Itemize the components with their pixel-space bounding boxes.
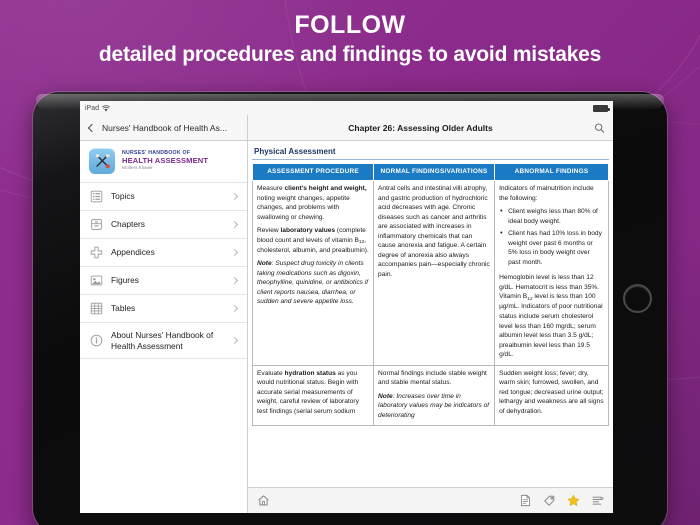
chevron-right-icon [231, 221, 238, 228]
promo-stage: FOLLOW detailed procedures and findings … [0, 0, 700, 525]
app-body: NURSES' HANDBOOK OF HEALTH ASSESSMENT Wo… [80, 141, 613, 513]
ipad-screen: iPad Nurses' Handbook of Health As... [80, 101, 613, 513]
chevron-right-icon [231, 337, 238, 344]
cell-assessment-procedure: Measure client's height and weight, noti… [253, 181, 374, 366]
note-label: Note [257, 260, 272, 267]
sidebar-item-label: Chapters [111, 219, 224, 230]
paragraph: Normal findings include stable weight an… [378, 369, 490, 388]
note-label: Note [378, 393, 393, 400]
status-right [593, 105, 608, 112]
table-header-row: ASSESSMENT PROCEDURE NORMAL FINDINGS/VAR… [253, 164, 609, 181]
book-title-label: Nurses' Handbook of Health As... [102, 123, 227, 133]
brand-line-2: HEALTH ASSESSMENT [122, 157, 208, 165]
content-scroll-area[interactable]: Physical Assessment ASSESSMENT PROCEDURE… [248, 141, 613, 487]
note-text: : Increases over time in laboratory valu… [378, 393, 489, 419]
chevron-right-icon [231, 193, 238, 200]
chapter-title: Chapter 26: Assessing Older Adults [248, 123, 613, 133]
sidebar-item-label: Figures [111, 275, 224, 286]
status-left: iPad [85, 105, 110, 112]
sidebar-item-tables[interactable]: Tables [80, 295, 247, 323]
text-bold: hydration status [285, 370, 336, 377]
brand-text: NURSES' HANDBOOK OF HEALTH ASSESSMENT Wo… [122, 151, 208, 171]
bullet-list: Client weighs less than 80% of ideal bod… [499, 207, 604, 267]
ipad-device-frame: iPad Nurses' Handbook of Health As... [33, 92, 667, 525]
chevron-left-icon[interactable] [88, 123, 96, 131]
promo-headline: FOLLOW detailed procedures and findings … [0, 10, 700, 69]
text-fragment: noting weight changes, appetite changes,… [257, 195, 350, 221]
battery-full-icon [593, 105, 608, 112]
sidebar-item-topics[interactable]: Topics [80, 183, 247, 211]
list-lines-icon[interactable] [591, 494, 604, 507]
table-icon [90, 302, 103, 315]
app-navigation-bar: Nurses' Handbook of Health As... Chapter… [80, 115, 613, 141]
carrier-label: iPad [85, 105, 99, 112]
list-item: Client weighs less than 80% of ideal bod… [499, 207, 604, 226]
text-fragment: Evaluate [257, 370, 285, 377]
subscript: 12 [527, 297, 532, 302]
paragraph: Sudden weight loss; fever; dry, warm ski… [499, 369, 604, 417]
paragraph: Indicators of malnutrition include the f… [499, 184, 604, 203]
paragraph: Evaluate hydration status as you would n… [257, 369, 369, 417]
wifi-icon [102, 105, 110, 112]
brand-publisher: Wolters Kluwer [122, 166, 208, 171]
text-bold: laboratory values [280, 227, 335, 234]
sidebar-item-appendices[interactable]: Appendices [80, 239, 247, 267]
list-icon [90, 190, 103, 203]
ios-status-bar: iPad [80, 101, 613, 115]
sidebar-item-label: About Nurses' Handbook of Health Assessm… [111, 330, 224, 351]
plus-icon [90, 246, 103, 259]
picture-icon [90, 274, 103, 287]
paragraph: Measure client's height and weight, noti… [257, 184, 369, 222]
sidebar-item-label: Topics [111, 191, 224, 202]
cell-normal-findings: Antral cells and intestinal villi atroph… [374, 181, 495, 366]
text-fragment: level is less than 100 µg/mL. Indicators… [499, 293, 603, 358]
sidebar-item-figures[interactable]: Figures [80, 267, 247, 295]
section-title: Physical Assessment [252, 146, 609, 160]
home-button[interactable] [623, 284, 652, 313]
info-circle-icon [90, 334, 103, 347]
cell-abnormal-findings: Indicators of malnutrition include the f… [495, 181, 609, 366]
chevron-right-icon [231, 305, 238, 312]
column-header-assessment: ASSESSMENT PROCEDURE [253, 164, 374, 181]
assessment-table: ASSESSMENT PROCEDURE NORMAL FINDINGS/VAR… [252, 163, 609, 426]
cell-abnormal-findings: Sudden weight loss; fever; dry, warm ski… [495, 365, 609, 426]
subscript: 12 [359, 240, 364, 245]
sidebar-item-about[interactable]: About Nurses' Handbook of Health Assessm… [80, 323, 247, 359]
search-icon[interactable] [594, 122, 605, 133]
list-item: Client has had 10% loss in body weight o… [499, 229, 604, 267]
cell-assessment-procedure: Evaluate hydration status as you would n… [253, 365, 374, 426]
headline-line-2: detailed procedures and findings to avoi… [0, 41, 700, 69]
column-header-abnormal: ABNORMAL FINDINGS [495, 164, 609, 181]
paragraph: Antral cells and intestinal villi atroph… [378, 184, 490, 279]
table-row: Measure client's height and weight, noti… [253, 181, 609, 366]
content-pane: Physical Assessment ASSESSMENT PROCEDURE… [248, 141, 613, 513]
note-text: : Suspect drug toxicity in clients takin… [257, 260, 368, 305]
sidebar-item-chapters[interactable]: Chapters [80, 211, 247, 239]
nav-back-area[interactable]: Nurses' Handbook of Health As... [80, 115, 248, 140]
star-icon[interactable] [567, 494, 580, 507]
crossed-tools-icon [94, 152, 111, 170]
paragraph-note: Note: Suspect drug toxicity in clients t… [257, 259, 369, 307]
home-icon[interactable] [257, 494, 270, 507]
headline-line-1: FOLLOW [0, 10, 700, 41]
table-row: Evaluate hydration status as you would n… [253, 365, 609, 426]
bottom-toolbar [248, 487, 613, 513]
sidebar-item-label: Tables [111, 303, 224, 314]
column-header-normal: NORMAL FINDINGS/VARIATIONS [374, 164, 495, 181]
app-logo-icon [89, 148, 115, 174]
note-page-icon[interactable] [519, 494, 532, 507]
archive-box-icon [90, 218, 103, 231]
text-fragment: Measure [257, 185, 285, 192]
toolbar-right-group [519, 494, 604, 507]
paragraph: Review laboratory values (complete blood… [257, 226, 369, 255]
cell-normal-findings: Normal findings include stable weight an… [374, 365, 495, 426]
chevron-right-icon [231, 249, 238, 256]
chevron-right-icon [231, 277, 238, 284]
paragraph-note: Note: Increases over time in laboratory … [378, 392, 490, 421]
sidebar-item-label: Appendices [111, 247, 224, 258]
sidebar: NURSES' HANDBOOK OF HEALTH ASSESSMENT Wo… [80, 141, 248, 513]
tag-icon[interactable] [543, 494, 556, 507]
sidebar-brand: NURSES' HANDBOOK OF HEALTH ASSESSMENT Wo… [80, 141, 247, 183]
paragraph: Hemoglobin level is less than 12 g/dL. H… [499, 273, 604, 359]
text-fragment: Review [257, 227, 280, 234]
text-bold: client's height and weight, [285, 185, 367, 192]
